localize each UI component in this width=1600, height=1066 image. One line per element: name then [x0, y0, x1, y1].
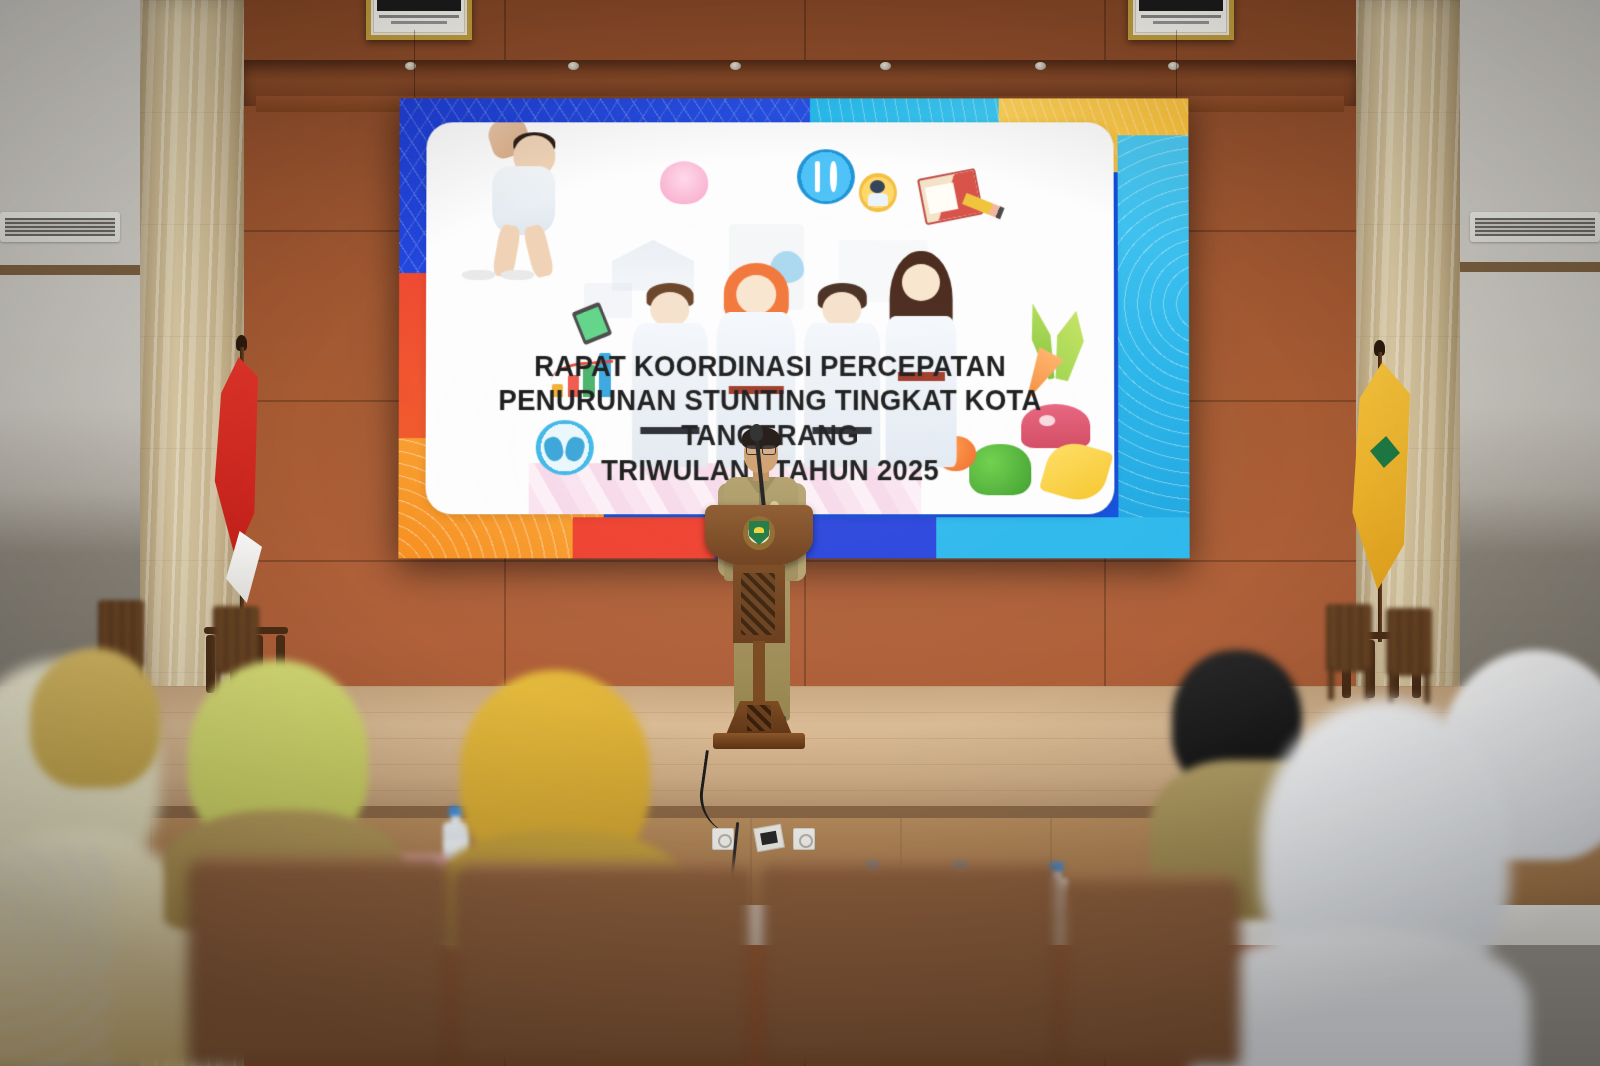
- figure-head: [650, 292, 689, 327]
- ac-vent-left: [0, 212, 120, 242]
- hijab-pattern: [0, 850, 110, 1066]
- frame-header-bar: [1139, 0, 1223, 11]
- figure-head: [902, 264, 940, 301]
- chair-back: [1386, 608, 1432, 676]
- frame-text-line: [1141, 15, 1221, 18]
- flag-cloth-red: [212, 357, 258, 557]
- phone-screen: [576, 307, 609, 341]
- frame-header-bar: [377, 0, 461, 11]
- chair-leg: [1388, 670, 1394, 704]
- toddler-body: [492, 167, 556, 236]
- foreground-chair[interactable]: [452, 862, 752, 1066]
- podium-microphone-head: [750, 424, 763, 441]
- podium-base: [713, 733, 805, 749]
- figure-head: [870, 180, 885, 193]
- podium-carving: [747, 705, 771, 731]
- left-wall-shelf: [0, 265, 140, 275]
- emblem-shield: [749, 521, 769, 545]
- podium-carving: [741, 573, 775, 635]
- tangerang-city-emblem: [743, 516, 775, 550]
- toddler-shoe: [462, 270, 495, 280]
- plate-fork-spoon-icon: [797, 150, 855, 205]
- pink-heart-baby-icon: [660, 161, 708, 204]
- table-microphone-base[interactable]: [753, 824, 785, 852]
- fork-shape: [815, 162, 820, 193]
- background-chair: [1378, 608, 1440, 704]
- eyeglasses-icon: [746, 445, 776, 453]
- figure-head: [736, 275, 776, 314]
- frame-text-line: [1153, 21, 1209, 24]
- microphone-switch[interactable]: [760, 831, 778, 846]
- figure-head: [822, 292, 861, 327]
- framed-certificate-left: [366, 0, 472, 40]
- figure-body: [867, 193, 888, 206]
- flag-cloth-yellow: [1350, 362, 1410, 590]
- framed-certificate-right: [1128, 0, 1234, 40]
- frame-text-line: [379, 15, 459, 18]
- wall-outlet: [793, 828, 815, 850]
- slide-title-line-1: RAPAT KOORDINASI PERCEPATAN: [453, 350, 1086, 385]
- foreground-chair[interactable]: [760, 860, 1060, 1066]
- ceiling-spotlight: [730, 62, 741, 70]
- attendee-hijab: [30, 648, 160, 788]
- flag-cloth-white: [222, 531, 262, 603]
- frame-hanging-wire: [1176, 30, 1177, 98]
- slide-border-bottom-cyan: [936, 517, 1189, 559]
- slide-title-line-2: PENURUNAN STUNTING TINGKAT KOTA: [453, 384, 1086, 419]
- book-page: [925, 182, 958, 214]
- lens-right: [762, 445, 776, 455]
- frame-text-line: [391, 21, 447, 24]
- chair-leg: [1424, 670, 1430, 704]
- ac-vent-right: [1470, 212, 1600, 242]
- ceiling-spotlight: [880, 62, 891, 70]
- foreground-chair[interactable]: [188, 856, 450, 1066]
- toddler-shoe: [501, 270, 534, 280]
- frame-hanging-wire: [414, 30, 415, 98]
- right-wall-shelf: [1460, 262, 1600, 272]
- father-child-icon: [859, 173, 896, 212]
- podium-stem: [753, 641, 765, 703]
- auditorium-photo: RAPAT KOORDINASI PERCEPATAN PENURUNAN ST…: [0, 0, 1600, 1066]
- toddler-walking-photo: [447, 122, 599, 290]
- spoon-shape: [830, 162, 838, 193]
- ceiling-spotlight: [1035, 62, 1046, 70]
- slide-border-cyan-right: [1117, 135, 1189, 558]
- foreground-chair[interactable]: [1060, 874, 1240, 1066]
- chair-leg: [1364, 666, 1370, 700]
- attendee-hijab-mustard: [20, 648, 170, 798]
- wall-outlet: [712, 828, 734, 850]
- ceiling-spotlight: [568, 62, 579, 70]
- ceiling-spotlight: [1168, 62, 1179, 70]
- wooden-podium: [705, 505, 813, 755]
- attendee-shoulders: [1190, 930, 1530, 1066]
